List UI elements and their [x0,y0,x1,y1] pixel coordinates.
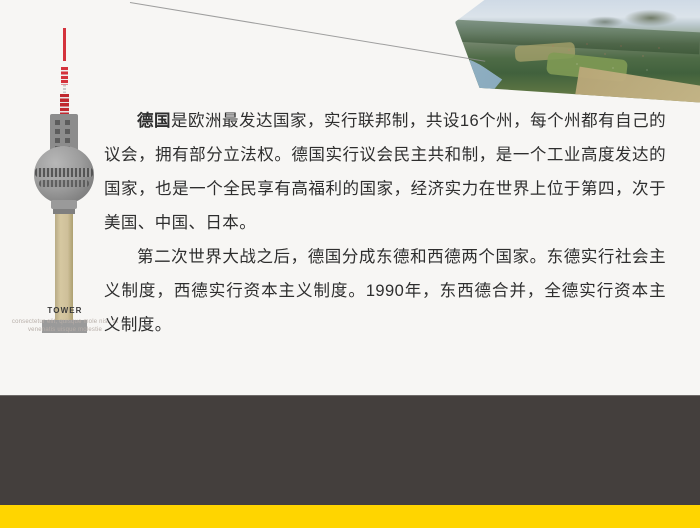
paragraph-two: 第二次世界大战之后，德国分成东德和西德两个国家。东德实行社会主义制度，西德实行资… [104,240,666,342]
tower-deck-window [55,120,60,125]
tower-deck-window [55,129,60,134]
diagonal-hairline [130,2,485,62]
tower-deck-window [65,129,70,134]
footer-accent-bar [0,505,700,528]
tower-deck-window [65,120,70,125]
body-copy: 德国是欧洲最发达国家，实行联邦制，共设16个州，每个州都有自己的议会，拥有部分立… [104,104,666,342]
tower-illustration [22,28,108,318]
slide-canvas: TOWER consectetur elit, quisque mole nis… [0,0,700,528]
photo-village [547,40,677,76]
tower-antenna-tip [63,28,66,61]
tower-sphere-window-band-lower [39,180,89,187]
paragraph-one-lead: 德国 [137,112,171,130]
tower-antenna-segment-lower [60,94,69,116]
tower-deck-window [65,138,70,143]
paragraph-one: 德国是欧洲最发达国家，实行联邦制，共设16个州，每个州都有自己的议会，拥有部分立… [104,104,666,240]
tower-antenna-segment-upper [61,67,68,85]
paragraph-one-rest: 是欧洲最发达国家，实行联邦制，共设16个州，每个州都有自己的议会，拥有部分立法权… [104,112,666,232]
tower-deck-window [55,138,60,143]
footer-dark-bar [0,396,700,505]
tower-collar [51,200,77,209]
tower-antenna-gap-lower [63,85,66,94]
tower-sphere-window-band [35,168,93,177]
